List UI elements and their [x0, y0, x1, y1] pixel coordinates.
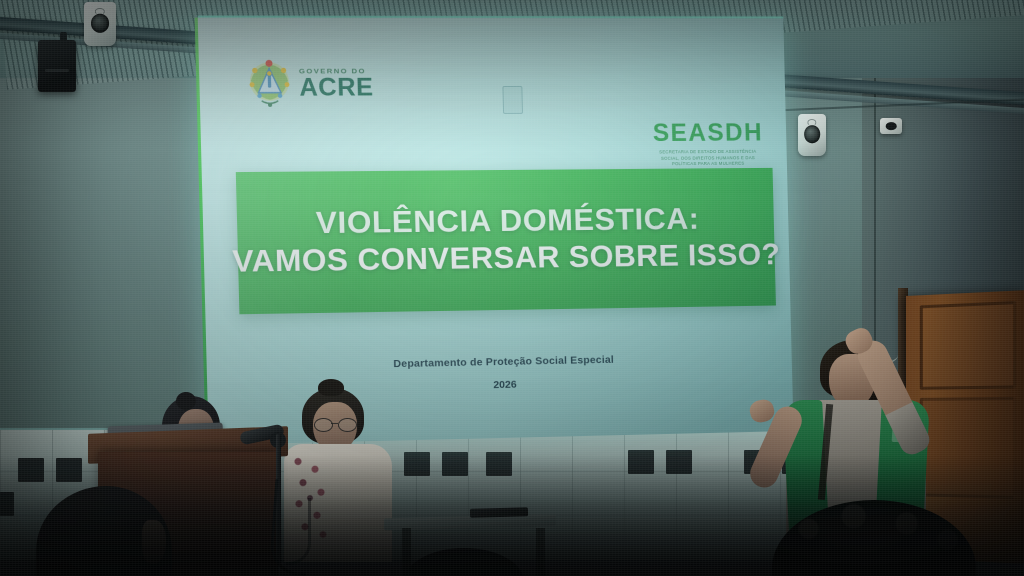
- presenter-with-glasses: [302, 388, 412, 568]
- microphone-cable-loop: [286, 498, 311, 565]
- ceiling-speaker-left: [38, 40, 76, 92]
- acre-coat-of-arms-icon: [246, 58, 292, 109]
- slide-footer: Departamento de Proteção Social Especial…: [207, 350, 793, 397]
- presenter-b-hair-bun: [318, 379, 344, 396]
- projection-screen: GOVERNO DO ACRE SEASDH SECRETARIA DE EST…: [198, 18, 794, 445]
- seasdh-acronym: SEASDH: [652, 121, 763, 146]
- corner-sensor-right: [880, 118, 902, 134]
- room-photo-scene: GOVERNO DO ACRE SEASDH SECRETARIA DE EST…: [0, 0, 1024, 576]
- gov-logo-small-line: GOVERNO DO: [299, 68, 373, 75]
- slide-title-band: VIOLÊNCIA DOMÉSTICA: VAMOS CONVERSAR SOB…: [236, 168, 776, 314]
- slide-surface: GOVERNO DO ACRE SEASDH SECRETARIA DE EST…: [198, 18, 794, 445]
- slide-footer-department: Departamento de Proteção Social Especial: [207, 350, 792, 373]
- presenter-a-hair-bun: [176, 392, 196, 410]
- side-table-leg-right: [536, 528, 545, 576]
- slide-title-line-2: VAMOS CONVERSAR SOBRE ISSO?: [232, 237, 781, 281]
- audience-left-face: [142, 520, 166, 564]
- seasdh-logo: SEASDH SECRETARIA DE ESTADO DE ASSISTÊNC…: [652, 121, 763, 169]
- remote-on-table[interactable]: [470, 507, 528, 518]
- slide-title-line-1: VIOLÊNCIA DOMÉSTICA:: [315, 201, 699, 242]
- slide-footer-year: 2026: [207, 373, 792, 397]
- seasdh-subtitle: SECRETARIA DE ESTADO DE ASSISTÊNCIA SOCI…: [653, 149, 762, 168]
- eyeglasses-icon: [314, 418, 357, 430]
- slide-header: GOVERNO DO ACRE SEASDH SECRETARIA DE EST…: [198, 18, 787, 152]
- gov-logo-main-line: ACRE: [299, 76, 374, 99]
- governo-do-acre-logo: GOVERNO DO ACRE: [246, 58, 374, 109]
- security-camera-left: [84, 2, 116, 46]
